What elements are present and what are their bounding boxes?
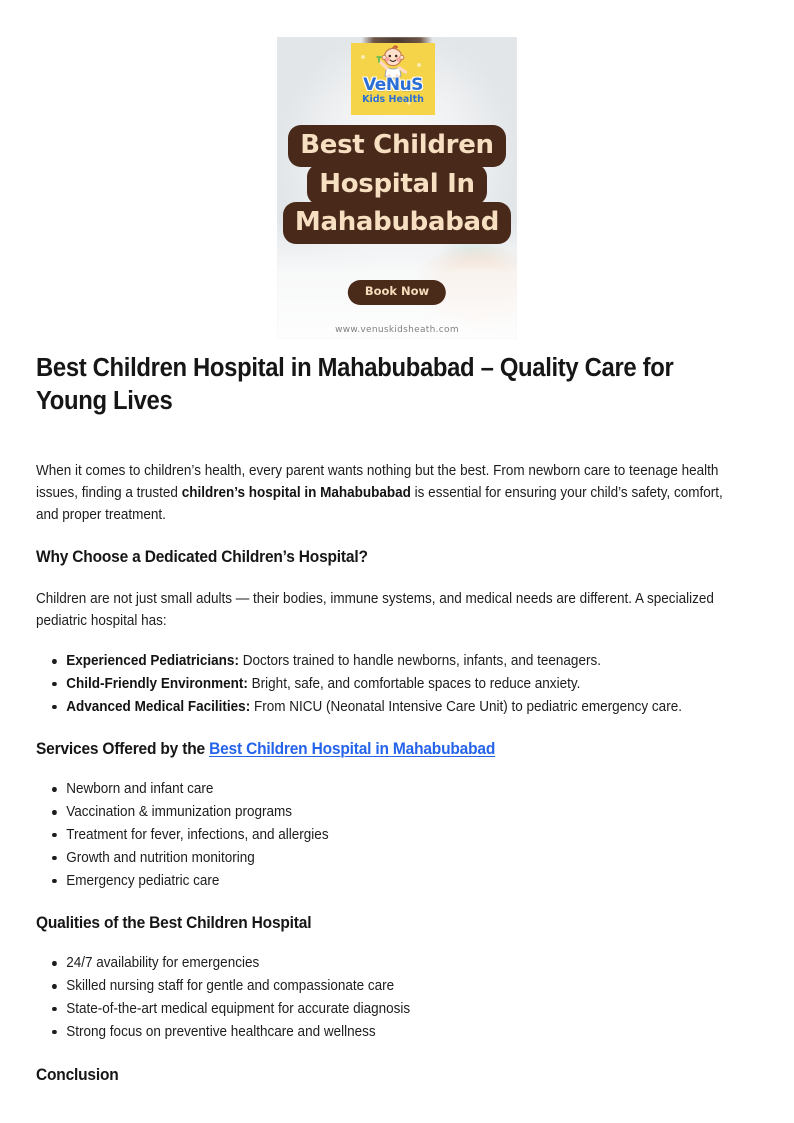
services-list: Newborn and infant care Vaccination & im… [36, 778, 776, 892]
hero-banner-heading: Best Children Hospital In Mahabubabad [277, 125, 517, 244]
intro-text-bold: children’s hospital in Mahabubabad [182, 485, 411, 501]
list-item: Treatment for fever, infections, and all… [66, 824, 776, 847]
venus-kids-health-logo: VeNuS Kids Health [351, 43, 435, 115]
list-item: Advanced Medical Facilities: From NICU (… [66, 696, 776, 719]
list-item: Growth and nutrition monitoring [66, 847, 776, 870]
list-item: Skilled nursing staff for gentle and com… [66, 975, 776, 998]
article-body: Best Children Hospital in Mahabubabad – … [36, 352, 746, 1086]
list-item: Vaccination & immunization programs [66, 801, 776, 824]
hero-banner-line-3: Mahabubabad [283, 202, 511, 244]
hero-website-url: www.venuskidsheath.com [277, 325, 517, 335]
intro-paragraph: When it comes to children’s health, ever… [36, 460, 746, 526]
section-heading-why-choose: Why Choose a Dedicated Children’s Hospit… [36, 546, 746, 568]
list-item: Newborn and infant care [66, 778, 776, 801]
document-page: VeNuS Kids Health Best Children Hospital… [0, 0, 794, 1123]
hero-banner-line-2: Hospital In [307, 164, 486, 206]
featured-hero-image: VeNuS Kids Health Best Children Hospital… [277, 37, 517, 339]
section-heading-services: Services Offered by the Best Children Ho… [36, 738, 746, 760]
why-choose-paragraph: Children are not just small adults — the… [36, 588, 746, 632]
section-heading-qualities: Qualities of the Best Children Hospital [36, 912, 746, 934]
logo-tagline-text: Kids Health [351, 95, 435, 105]
list-item-text: From NICU (Neonatal Intensive Care Unit)… [250, 699, 682, 715]
list-item: Strong focus on preventive healthcare an… [66, 1021, 776, 1044]
list-item: Experienced Pediatricians: Doctors train… [66, 650, 776, 673]
list-item-text: Doctors trained to handle newborns, infa… [239, 653, 601, 669]
services-heading-prefix: Services Offered by the [36, 740, 209, 758]
best-children-hospital-link[interactable]: Best Children Hospital in Mahabubabad [209, 740, 495, 758]
list-item-lead: Advanced Medical Facilities: [66, 699, 250, 715]
qualities-list: 24/7 availability for emergencies Skille… [36, 952, 776, 1043]
list-item: Emergency pediatric care [66, 870, 776, 893]
page-title: Best Children Hospital in Mahabubabad – … [36, 352, 747, 418]
logo-brand-text: VeNuS [351, 77, 435, 94]
book-now-button[interactable]: Book Now [348, 280, 446, 305]
why-choose-list: Experienced Pediatricians: Doctors train… [36, 650, 776, 718]
hero-banner-line-1: Best Children [288, 125, 506, 167]
list-item: Child-Friendly Environment: Bright, safe… [66, 673, 776, 696]
section-heading-conclusion: Conclusion [36, 1064, 746, 1086]
list-item-lead: Child-Friendly Environment: [66, 676, 248, 692]
list-item-lead: Experienced Pediatricians: [66, 653, 239, 669]
list-item: State-of-the-art medical equipment for a… [66, 998, 776, 1021]
list-item: 24/7 availability for emergencies [66, 952, 776, 975]
list-item-text: Bright, safe, and comfortable spaces to … [248, 676, 580, 692]
